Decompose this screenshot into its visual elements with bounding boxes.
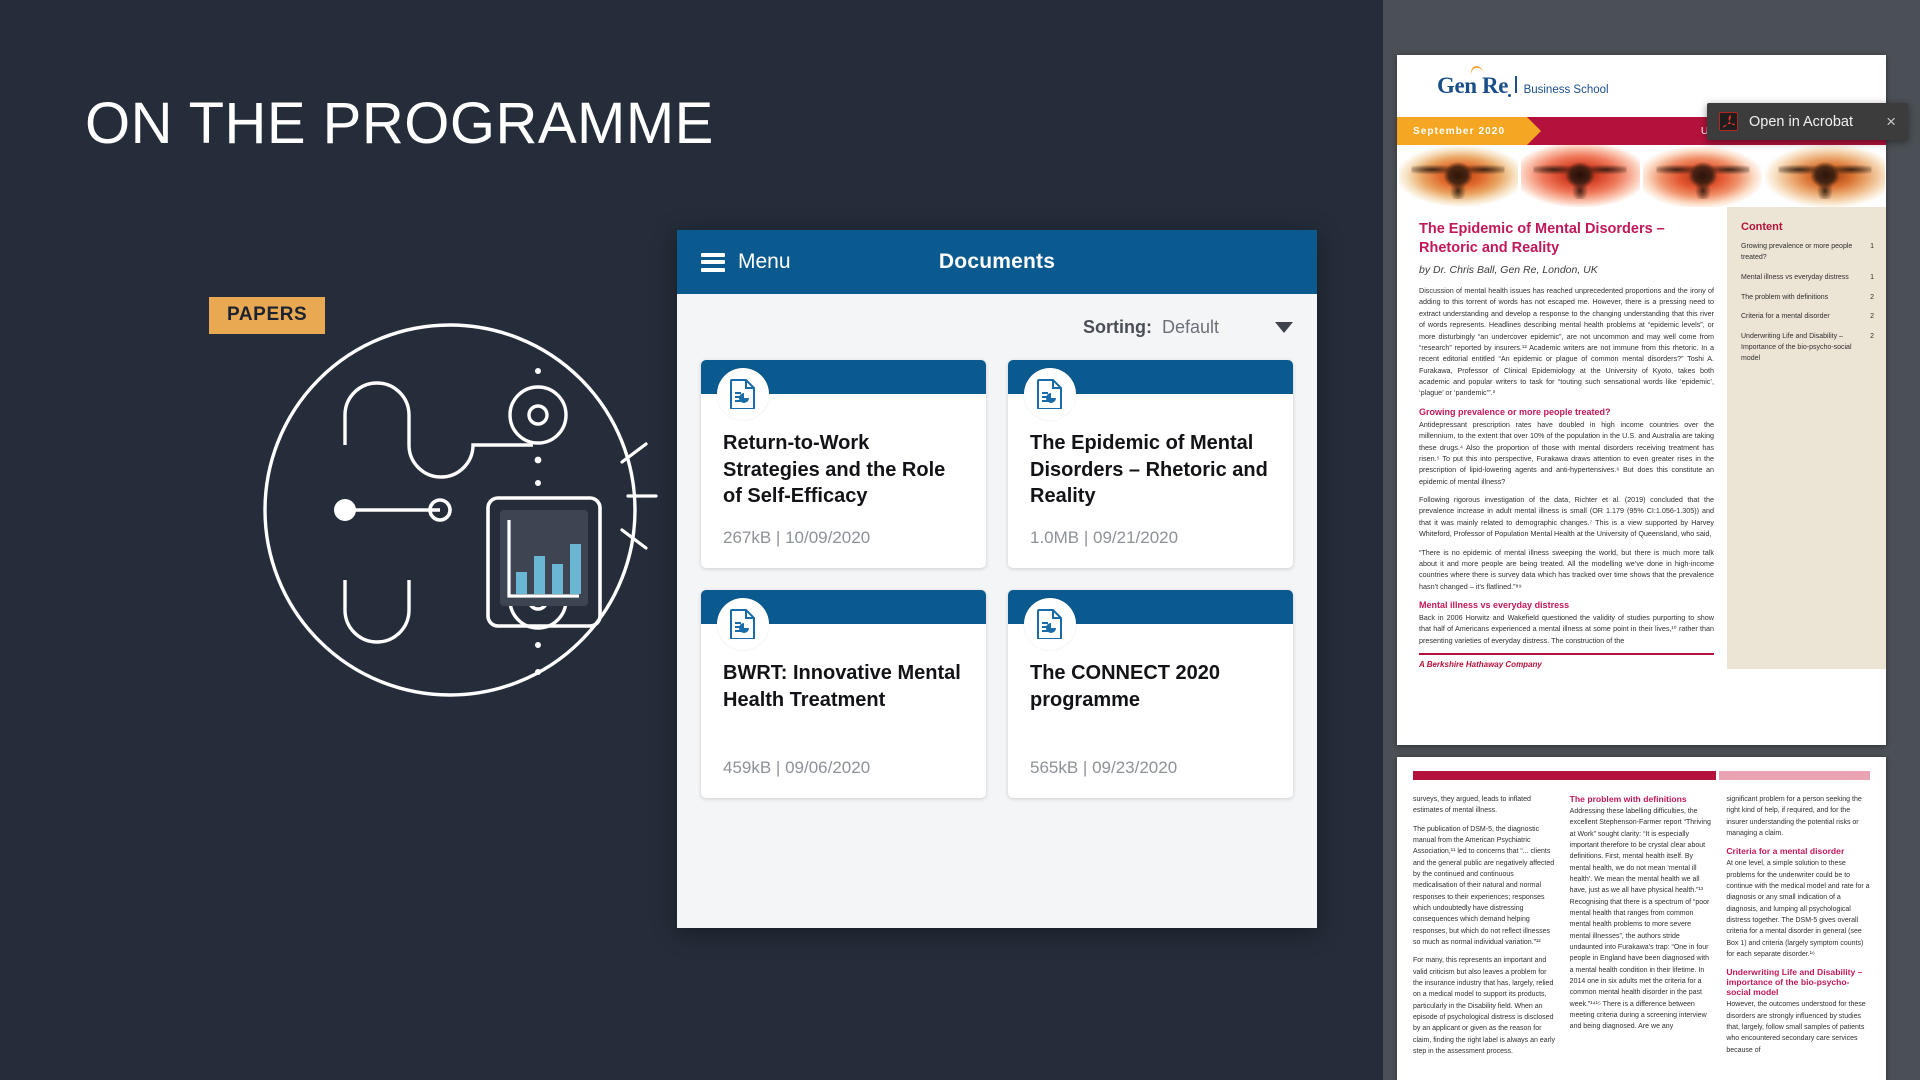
column-two: The problem with definitions Addressing … bbox=[1570, 794, 1714, 1064]
document-chart-icon bbox=[1024, 598, 1076, 650]
acrobat-pdf-icon bbox=[1719, 112, 1738, 131]
toc-entry-page: 1 bbox=[1864, 242, 1874, 264]
circuit-illustration bbox=[250, 280, 690, 740]
toc-entry-text: Criteria for a mental disorder bbox=[1741, 312, 1864, 323]
article-section-heading: Growing prevalence or more people treate… bbox=[1419, 407, 1714, 417]
card-meta: 459kB | 09/06/2020 bbox=[723, 758, 964, 778]
contents-heading: Content bbox=[1741, 221, 1874, 233]
paragraph: significant problem for a person seeking… bbox=[1726, 794, 1870, 839]
card-title: The Epidemic of Mental Disorders – Rheto… bbox=[1030, 430, 1271, 510]
document-card[interactable]: The CONNECT 2020 programme 565kB | 09/23… bbox=[1008, 590, 1293, 798]
document-card[interactable]: The Epidemic of Mental Disorders – Rheto… bbox=[1008, 360, 1293, 568]
document-card[interactable]: Return-to-Work Strategies and the Role o… bbox=[701, 360, 986, 568]
toc-entry-page: 2 bbox=[1864, 332, 1874, 365]
acrobat-toast-label: Open in Acrobat bbox=[1749, 114, 1875, 130]
menu-label: Menu bbox=[738, 250, 791, 274]
card-meta: 565kB | 09/23/2020 bbox=[1030, 758, 1271, 778]
menu-button[interactable]: Menu bbox=[701, 250, 791, 274]
brand-name: Gen Re bbox=[1437, 73, 1508, 99]
article-section-heading: Mental illness vs everyday distress bbox=[1419, 600, 1714, 610]
document-chart-icon bbox=[717, 368, 769, 420]
close-icon[interactable]: × bbox=[1886, 113, 1896, 130]
document-chart-icon bbox=[1024, 368, 1076, 420]
pdf-viewer-pane[interactable]: Gen Re Business School September 2020 UN… bbox=[1383, 0, 1920, 1080]
paragraph: However, the outcomes understood for the… bbox=[1726, 999, 1870, 1056]
brand-subtitle: Business School bbox=[1524, 84, 1609, 96]
toc-entry-text: Mental illness vs everyday distress bbox=[1741, 273, 1864, 284]
issue-date-chevron: September 2020 bbox=[1397, 117, 1527, 145]
logo-divider bbox=[1515, 76, 1517, 93]
article-paragraph: Antidepressant prescription rates have d… bbox=[1419, 419, 1714, 487]
section-heading: Underwriting Life and Disability – impor… bbox=[1726, 967, 1870, 997]
article-paragraph: Discussion of mental health issues has r… bbox=[1419, 285, 1714, 399]
page-columns: surveys, they argued, leads to inflated … bbox=[1397, 780, 1886, 1064]
toc-entry-page: 2 bbox=[1864, 293, 1874, 304]
contents-sidebar: Content Growing prevalence or more peopl… bbox=[1727, 207, 1886, 669]
paragraph: At one level, a simple solution to these… bbox=[1726, 858, 1870, 960]
pdf-footer: A Berkshire Hathaway Company bbox=[1419, 660, 1714, 669]
app-header: Menu Documents bbox=[677, 230, 1317, 294]
issue-date: September 2020 bbox=[1413, 126, 1505, 137]
toc-entry[interactable]: Mental illness vs everyday distress 1 bbox=[1741, 273, 1874, 284]
cover-artwork bbox=[1397, 145, 1886, 207]
paragraph: Addressing these labelling difficulties,… bbox=[1570, 806, 1714, 1033]
article-paragraph: Back in 2006 Horwitz and Wakefield quest… bbox=[1419, 612, 1714, 646]
paragraph: For many, this represents an important a… bbox=[1413, 955, 1557, 1057]
footer-divider bbox=[1419, 653, 1714, 655]
toc-entry[interactable]: Growing prevalence or more people treate… bbox=[1741, 242, 1874, 264]
hamburger-menu-icon bbox=[701, 253, 725, 272]
column-one: surveys, they argued, leads to inflated … bbox=[1413, 794, 1557, 1064]
papers-badge: PAPERS bbox=[209, 297, 325, 334]
toc-entry-page: 2 bbox=[1864, 312, 1874, 323]
page-title: ON THE PROGRAMME bbox=[85, 90, 714, 157]
toc-entry-text: The problem with definitions bbox=[1741, 293, 1864, 304]
section-heading: Criteria for a mental disorder bbox=[1726, 846, 1870, 856]
document-card[interactable]: BWRT: Innovative Mental Health Treatment… bbox=[701, 590, 986, 798]
toc-entry-text: Underwriting Life and Disability – Impor… bbox=[1741, 332, 1864, 365]
toc-entry-page: 1 bbox=[1864, 273, 1874, 284]
paragraph: surveys, they argued, leads to inflated … bbox=[1413, 794, 1557, 817]
page-header-rule bbox=[1413, 771, 1870, 780]
document-chart-icon bbox=[717, 598, 769, 650]
article-paragraph: “There is no epidemic of mental illness … bbox=[1419, 547, 1714, 593]
article-byline: by Dr. Chris Ball, Gen Re, London, UK bbox=[1419, 264, 1714, 276]
sorting-label: Sorting: bbox=[1083, 317, 1152, 338]
paragraph: The publication of DSM-5, the diagnostic… bbox=[1413, 824, 1557, 949]
open-in-acrobat-toast[interactable]: Open in Acrobat × bbox=[1707, 103, 1908, 140]
toc-entry-text: Growing prevalence or more people treate… bbox=[1741, 242, 1864, 264]
gen-re-logo: Gen Re Business School bbox=[1437, 73, 1609, 99]
chevron-down-icon[interactable] bbox=[1275, 322, 1293, 333]
article-title: The Epidemic of Mental Disorders – Rheto… bbox=[1419, 220, 1714, 257]
documents-app-window: Menu Documents Sorting: Default bbox=[677, 230, 1317, 928]
pdf-body: The Epidemic of Mental Disorders – Rheto… bbox=[1397, 207, 1886, 669]
card-title: Return-to-Work Strategies and the Role o… bbox=[723, 430, 964, 510]
sorting-value[interactable]: Default bbox=[1162, 317, 1219, 338]
pdf-page-2[interactable]: surveys, they argued, leads to inflated … bbox=[1397, 757, 1886, 1080]
pdf-page-1[interactable]: Gen Re Business School September 2020 UN… bbox=[1397, 55, 1886, 745]
sorting-row: Sorting: Default bbox=[677, 294, 1317, 360]
column-three: significant problem for a person seeking… bbox=[1726, 794, 1870, 1064]
card-title: The CONNECT 2020 programme bbox=[1030, 660, 1271, 713]
presentation-slide: ON THE PROGRAMME bbox=[0, 0, 1383, 1080]
section-heading: The problem with definitions bbox=[1570, 794, 1714, 804]
article-paragraph: Following rigorous investigation of the … bbox=[1419, 494, 1714, 540]
toc-entry[interactable]: The problem with definitions 2 bbox=[1741, 293, 1874, 304]
card-title: BWRT: Innovative Mental Health Treatment bbox=[723, 660, 964, 713]
toc-entry[interactable]: Criteria for a mental disorder 2 bbox=[1741, 312, 1874, 323]
toc-entry[interactable]: Underwriting Life and Disability – Impor… bbox=[1741, 332, 1874, 365]
card-meta: 1.0MB | 09/21/2020 bbox=[1030, 528, 1271, 548]
documents-grid: Return-to-Work Strategies and the Role o… bbox=[677, 360, 1317, 798]
article-column: The Epidemic of Mental Disorders – Rheto… bbox=[1397, 207, 1727, 669]
card-meta: 267kB | 10/09/2020 bbox=[723, 528, 964, 548]
